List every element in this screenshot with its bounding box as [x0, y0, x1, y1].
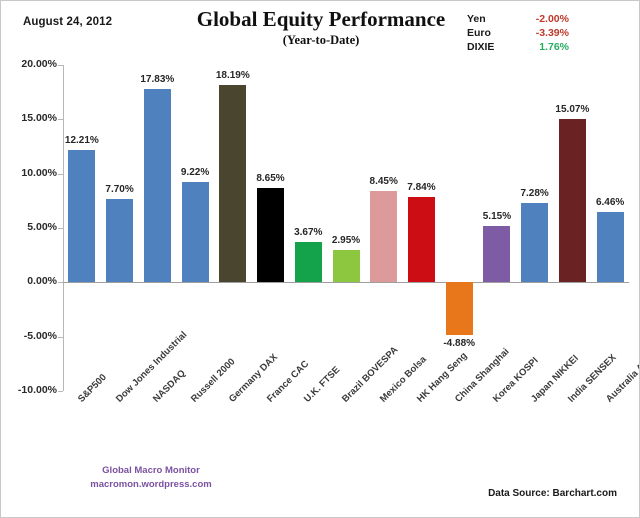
fx-legend-name: Yen — [467, 12, 517, 26]
bar-value-label: 7.28% — [509, 188, 560, 199]
bar-value-label: -4.88% — [434, 338, 485, 349]
bar-value-label: 7.84% — [396, 182, 447, 193]
bar[interactable] — [295, 242, 322, 282]
bar[interactable] — [144, 89, 171, 283]
y-axis-tick-label: -10.00% — [0, 384, 57, 396]
bar-value-label: 9.22% — [170, 167, 221, 178]
chart-date-label: August 24, 2012 — [23, 16, 112, 28]
y-axis-line — [63, 65, 64, 391]
bar[interactable] — [106, 199, 133, 283]
x-axis-tick-labels: S&P500Dow Jones IndustrialNASDAQRussell … — [63, 391, 629, 471]
bar-value-label: 2.95% — [321, 235, 372, 246]
bar[interactable] — [559, 119, 586, 283]
y-axis-tick-mark — [58, 228, 63, 229]
y-axis-tick-label: 5.00% — [0, 221, 57, 233]
global-equity-performance-chart: August 24, 2012 Global Equity Performanc… — [0, 0, 640, 518]
bar[interactable] — [446, 282, 473, 335]
fx-legend-row: Euro-3.39% — [467, 26, 569, 40]
y-axis-tick-label: 20.00% — [0, 58, 57, 70]
bar[interactable] — [370, 191, 397, 283]
y-axis-tick-mark — [58, 65, 63, 66]
bar[interactable] — [408, 197, 435, 282]
bar[interactable] — [257, 188, 284, 282]
bar-value-label: 6.46% — [585, 197, 636, 208]
chart-subtitle: (Year-to-Date) — [171, 32, 471, 48]
bar-value-label: 15.07% — [547, 104, 598, 115]
fx-legend-row: Yen-2.00% — [467, 12, 569, 26]
bar[interactable] — [182, 182, 209, 282]
y-axis-tick-mark — [58, 119, 63, 120]
fx-legend-row: DIXIE1.76% — [467, 40, 569, 54]
fx-legend-value: -3.39% — [517, 26, 569, 40]
bar[interactable] — [219, 85, 246, 283]
bar-value-label: 5.15% — [471, 211, 522, 222]
fx-legend-name: DIXIE — [467, 40, 517, 54]
y-axis-tick-label: 10.00% — [0, 167, 57, 179]
bar-value-label: 7.70% — [94, 184, 145, 195]
fx-legend-value: 1.76% — [517, 40, 569, 54]
fx-legend-name: Euro — [467, 26, 517, 40]
bar[interactable] — [68, 150, 95, 283]
chart-title: Global Equity Performance — [171, 7, 471, 32]
watermark: Global Macro Monitor macromon.wordpress.… — [81, 464, 221, 492]
bar[interactable] — [333, 250, 360, 282]
y-axis-tick-labels: 20.00%15.00%10.00%5.00%0.00%-5.00%-10.00… — [1, 65, 57, 391]
bar-value-label: 12.21% — [56, 135, 107, 146]
watermark-line-2: macromon.wordpress.com — [81, 478, 221, 492]
y-axis-tick-label: -5.00% — [0, 330, 57, 342]
y-axis-tick-label: 0.00% — [0, 275, 57, 287]
bar-value-label: 18.19% — [207, 70, 258, 81]
data-source-label: Data Source: Barchart.com — [488, 488, 617, 499]
watermark-line-1: Global Macro Monitor — [81, 464, 221, 478]
zero-baseline — [63, 282, 629, 283]
y-axis-tick-label: 15.00% — [0, 112, 57, 124]
fx-legend-value: -2.00% — [517, 12, 569, 26]
y-axis-tick-mark — [58, 337, 63, 338]
fx-legend: Yen-2.00%Euro-3.39%DIXIE1.76% — [467, 12, 569, 54]
y-axis-tick-mark — [58, 174, 63, 175]
chart-title-block: Global Equity Performance (Year-to-Date) — [171, 7, 471, 48]
bar-value-label: 8.65% — [245, 173, 296, 184]
bar[interactable] — [483, 226, 510, 282]
bar[interactable] — [521, 203, 548, 282]
plot-area: 12.21%7.70%17.83%9.22%18.19%8.65%3.67%2.… — [63, 65, 629, 391]
bar-value-label: 17.83% — [132, 74, 183, 85]
bar[interactable] — [597, 212, 624, 282]
